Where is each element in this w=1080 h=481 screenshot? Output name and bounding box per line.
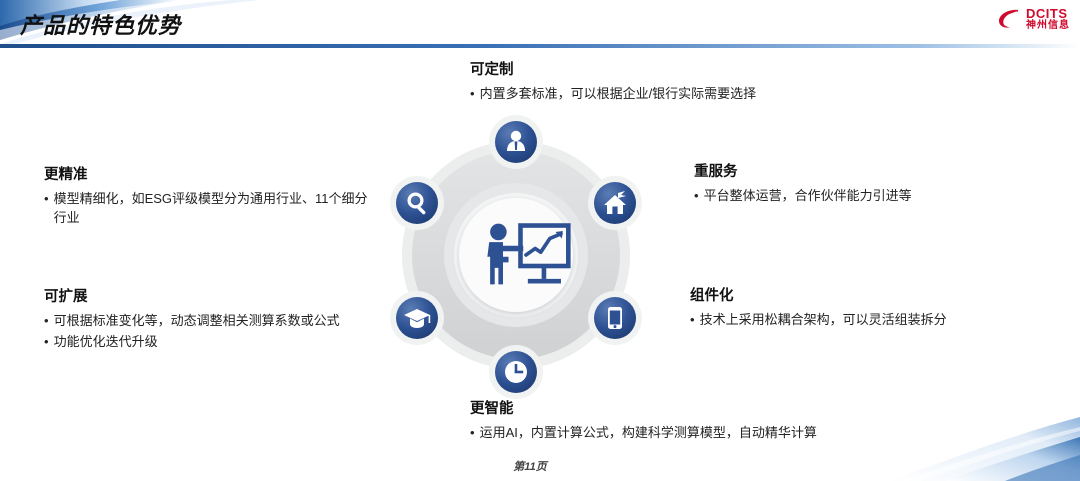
block-bullet: • 可根据标准变化等，动态调整相关测算系数或公式 (44, 312, 379, 331)
bullet-dot-icon: • (44, 333, 49, 352)
bullet-text: 功能优化迭代升级 (54, 333, 379, 352)
bullet-dot-icon: • (44, 312, 49, 331)
page-number-label: 第11页 (470, 458, 590, 474)
bullet-dot-icon: • (44, 190, 49, 209)
bullet-text: 技术上采用松耦合架构，可以灵活组装拆分 (700, 311, 1030, 330)
mobile-phone-icon (588, 291, 642, 345)
block-title: 可扩展 (44, 288, 379, 307)
block-service-focus: 重服务 • 平台整体运营，合作伙伴能力引进等 (694, 163, 1024, 208)
block-customizable: 可定制 • 内置多套标准，可以根据企业/银行实际需要选择 (470, 61, 890, 106)
header-divider-rule (0, 44, 1080, 48)
block-bullet: • 功能优化迭代升级 (44, 333, 379, 352)
home-flag-icon (588, 176, 642, 230)
page-title: 产品的特色优势 (20, 8, 181, 40)
bullet-text: 平台整体运营，合作伙伴能力引进等 (704, 187, 1024, 206)
block-bullet: • 内置多套标准，可以根据企业/银行实际需要选择 (470, 85, 890, 104)
block-bullet: • 技术上采用松耦合架构，可以灵活组装拆分 (690, 311, 1030, 330)
hexagon-feature-graphic (382, 110, 650, 400)
bullet-dot-icon: • (470, 85, 475, 104)
block-more-accurate: 更精准 • 模型精细化，如ESG评级模型分为通用行业、11个细分行业 (44, 166, 379, 230)
search-magnifier-icon (390, 176, 444, 230)
bullet-dot-icon: • (690, 311, 695, 330)
graduation-cap-icon (390, 291, 444, 345)
block-bullet: • 模型精细化，如ESG评级模型分为通用行业、11个细分行业 (44, 190, 379, 228)
block-title: 重服务 (694, 163, 1024, 182)
bullet-dot-icon: • (470, 424, 475, 443)
block-title: 组件化 (690, 287, 1030, 306)
brand-logo: DCITS 神州信息 (996, 6, 1070, 32)
block-extensible: 可扩展 • 可根据标准变化等，动态调整相关测算系数或公式 • 功能优化迭代升级 (44, 288, 379, 354)
block-bullet: • 平台整体运营，合作伙伴能力引进等 (694, 187, 1024, 206)
presenter-chart-icon (459, 198, 573, 312)
clock-icon (489, 345, 543, 399)
block-title: 可定制 (470, 61, 890, 80)
footer-swoosh-decoration (850, 411, 1080, 481)
bullet-text: 可根据标准变化等，动态调整相关测算系数或公式 (54, 312, 379, 331)
bullet-dot-icon: • (694, 187, 699, 206)
slide-header: 产品的特色优势 DCITS 神州信息 (0, 0, 1080, 48)
block-title: 更精准 (44, 166, 379, 185)
bullet-text: 模型精细化，如ESG评级模型分为通用行业、11个细分行业 (54, 190, 379, 228)
bullet-text: 内置多套标准，可以根据企业/银行实际需要选择 (480, 85, 890, 104)
dcits-swirl-icon (996, 6, 1022, 32)
slide: 产品的特色优势 DCITS 神州信息 可定制 • 内置多套标准，可以根据企业/银… (0, 0, 1080, 481)
logo-text-en: DCITS (1026, 7, 1070, 21)
logo-text-cn: 神州信息 (1026, 21, 1070, 32)
user-person-icon (489, 115, 543, 169)
block-componentized: 组件化 • 技术上采用松耦合架构，可以灵活组装拆分 (690, 287, 1030, 332)
